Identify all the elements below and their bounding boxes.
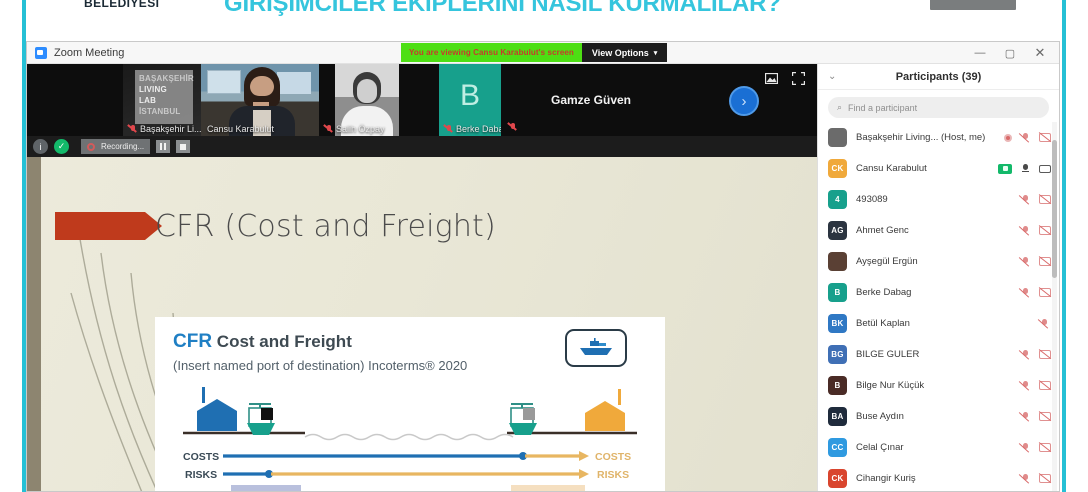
participant-row[interactable]: 4 493089 [818,184,1059,215]
participant-status-icons [1019,256,1051,268]
view-options-label: View Options [592,48,649,58]
collapse-panel-icon[interactable]: ⌄ [828,71,836,82]
camera-off-icon[interactable] [1039,474,1051,483]
window-body: BAŞAKŞEHİR LIVING LAB İSTANBUL Başakşehi… [27,64,1059,492]
meeting-stage: BAŞAKŞEHİR LIVING LAB İSTANBUL Başakşehi… [27,64,817,492]
mic-off-icon[interactable] [1019,194,1032,206]
participant-row[interactable]: B Berke Dabag [818,277,1059,308]
participant-status-icons [1019,287,1051,299]
window-controls: — ▢ ✕ [965,42,1055,64]
camera-off-icon[interactable] [1039,443,1051,452]
mic-off-icon [509,123,517,132]
encryption-shield-icon[interactable]: ✓ [54,139,69,154]
mic-off-icon[interactable] [1019,442,1032,454]
video-tile[interactable]: Salih Özpay [319,64,403,136]
slide-left-band [27,157,41,492]
header-placeholder-block [930,0,1016,10]
avatar: BG [828,345,847,364]
pause-recording-button[interactable] [156,140,170,153]
participant-status-icons [1019,442,1051,454]
meeting-info-icon[interactable]: i [33,139,48,154]
logo-line-2: LIVING [139,84,189,95]
mic-off-icon[interactable] [1019,132,1032,144]
avatar [828,128,847,147]
participant-status-icons [1019,380,1051,392]
participant-name: Başakşehir Living... (Host, me) [856,132,995,143]
zoom-logo-icon [35,47,47,59]
participant-name: Buse Aydın [856,411,1010,422]
recording-label: Recording... [101,142,144,151]
camera-off-icon[interactable] [1039,257,1051,266]
camera-off-icon[interactable] [1039,350,1051,359]
video-tile-name-row: Berke Dabag [445,124,501,134]
view-options-button[interactable]: View Options ▾ [582,43,667,62]
costs-label-right: COSTS [595,451,631,463]
avatar: AG [828,221,847,240]
video-tile[interactable]: BAŞAKŞEHİR LIVING LAB İSTANBUL Başakşehi… [123,64,201,136]
participant-row[interactable]: BG BILGE GULER [818,339,1059,370]
mic-off-icon[interactable] [1019,473,1032,485]
recording-toolbar: i ✓ Recording... [27,136,817,157]
participant-name: BILGE GULER [856,349,1010,360]
fullscreen-icon[interactable] [792,72,805,85]
video-tile-label: Gamze Güven [501,64,681,136]
participant-name: Ayşegül Ergün [856,256,1010,267]
stop-recording-button[interactable] [176,140,190,153]
municipality-label: BELEDİYESİ [84,0,159,10]
participant-row[interactable]: CK Cansu Karabulut [818,153,1059,184]
slide-bullet-arrow [55,212,145,240]
mic-off-icon [129,125,137,134]
participant-status-icons [1004,132,1051,144]
camera-off-icon[interactable] [1039,381,1051,390]
participant-name: Bilge Nur Küçük [856,380,1010,391]
video-tile-name-row: Salih Özpay [325,124,385,134]
participant-name: Celal Çınar [856,442,1010,453]
share-notice-label: You are viewing Cansu Karabulut's screen [401,43,582,62]
participant-row[interactable]: CK Cihangir Kuriş [818,463,1059,492]
participant-status-icons [1019,194,1051,206]
video-tile-name-row: Cansu Karabulut [207,124,274,134]
page-rail-right [1062,0,1066,492]
avatar: CK [828,469,847,488]
avatar: BA [828,407,847,426]
window-titlebar: Zoom Meeting You are viewing Cansu Karab… [27,42,1059,64]
participant-name: 493089 [856,194,1010,205]
camera-on-icon[interactable] [1039,165,1051,173]
zoom-meeting-window: Zoom Meeting You are viewing Cansu Karab… [26,41,1060,492]
mic-off-icon [445,125,453,134]
camera-off-icon[interactable] [1039,133,1051,142]
avatar [828,252,847,271]
participants-panel: ⌄ Participants (39) ⌕ Find a participant… [817,64,1059,492]
close-button[interactable]: ✕ [1025,42,1055,64]
minimize-button[interactable]: — [965,42,995,64]
incoterm-name: Cost and Freight [217,332,352,351]
risks-label-left: RISKS [185,469,217,481]
participant-row[interactable]: Ayşegül Ergün [818,246,1059,277]
incoterm-diagram: COSTS COSTS RISKS RISK [155,381,665,492]
page-header: BELEDİYESİ GİRİŞİMCİLER EKİPLERİNİ NASIL… [0,0,1088,42]
video-tile[interactable]: Cansu Karabulut [201,64,319,136]
participant-row[interactable]: BA Buse Aydın [818,401,1059,432]
video-filmstrip: BAŞAKŞEHİR LIVING LAB İSTANBUL Başakşehi… [27,64,817,136]
participant-row[interactable]: Başakşehir Living... (Host, me) [818,122,1059,153]
recording-status: Recording... [81,139,150,154]
logo-line-1: BAŞAKŞEHİR [139,73,189,84]
participant-status-icons [1019,411,1051,423]
mic-off-icon[interactable] [1019,380,1032,392]
mic-off-icon[interactable] [1019,287,1032,299]
participant-name: Ahmet Genc [856,225,1010,236]
logo-line-4: İSTANBUL [139,106,189,117]
mic-off-icon[interactable] [1038,318,1051,330]
participant-status-icons [1019,225,1051,237]
mic-off-icon[interactable] [1019,256,1032,268]
video-tile[interactable]: B Berke Dabag [439,64,501,136]
avatar: B [828,376,847,395]
costs-label-left: COSTS [183,451,219,463]
mic-off-icon[interactable] [1019,411,1032,423]
screen-share-banner: You are viewing Cansu Karabulut's screen… [401,43,667,62]
logo-line-3: LAB [139,95,189,106]
ship-at-import-port [509,403,537,435]
next-page-button[interactable]: › [729,86,759,116]
incoterm-card: CFR Cost and Freight (Insert named port … [155,317,665,492]
camera-off-icon[interactable] [1039,288,1051,297]
screen-share-icon [998,164,1012,174]
participant-row[interactable]: AG Ahmet Genc [818,215,1059,246]
gallery-view-icon[interactable] [765,73,778,84]
avatar: 4 [828,190,847,209]
participant-name: Berke Dabag [856,287,1010,298]
shared-slide: CFR (Cost and Freight) CFR Cost and Frei… [27,157,817,492]
record-dot-icon [87,143,95,151]
video-tile-label: Salih Özpay [336,124,385,134]
maximize-button[interactable]: ▢ [995,42,1025,64]
avatar: B [828,283,847,302]
camera-off-icon[interactable] [1039,412,1051,421]
participant-row[interactable]: B Bilge Nur Küçük [818,370,1059,401]
search-input[interactable]: Find a participant [848,103,917,113]
participant-status-icons [1019,473,1051,485]
participant-name: Cihangir Kuriş [856,473,1010,484]
participants-list[interactable]: Başakşehir Living... (Host, me) CK Cansu… [818,122,1059,492]
participants-title: Participants (39) [818,71,1059,83]
living-lab-logo: BAŞAKŞEHİR LIVING LAB İSTANBUL [135,70,193,124]
mic-off-icon[interactable] [1019,349,1032,361]
camera-off-icon[interactable] [1039,195,1051,204]
host-indicator-icon [1004,134,1012,142]
participant-status-icons [1038,318,1051,330]
video-tile-label: Berke Dabag [456,124,501,134]
participant-status-icons [1019,349,1051,361]
video-tile-name-row: Başakşehir Li... [129,124,201,134]
search-icon: ⌕ [837,102,842,113]
mic-off-icon [325,125,333,134]
video-tile[interactable]: Gamze Güven [501,64,681,136]
webinar-title: GİRİŞİMCİLER EKİPLERİNİ NASIL KURMALILAR… [224,0,781,18]
mic-off-icon[interactable] [1019,225,1032,237]
window-title: Zoom Meeting [54,47,124,59]
ship-at-export-port [247,403,275,435]
ship-icon [565,329,627,367]
chevron-down-icon: ▾ [654,49,658,57]
participant-search-box[interactable]: ⌕ Find a participant [828,97,1049,118]
camera-off-icon[interactable] [1039,226,1051,235]
participant-name: Betül Kaplan [856,318,1029,329]
avatar: BK [828,314,847,333]
participant-row[interactable]: CC Celal Çınar [818,432,1059,463]
participant-status-icons [998,163,1051,175]
video-tile-label: Cansu Karabulut [207,124,274,134]
avatar: CK [828,159,847,178]
participants-scrollbar[interactable] [1052,140,1057,278]
slide-heading: CFR (Cost and Freight) [155,209,496,244]
avatar: CC [828,438,847,457]
participants-header: ⌄ Participants (39) [818,64,1059,90]
participant-row[interactable]: BK Betül Kaplan [818,308,1059,339]
mic-on-icon[interactable] [1019,163,1032,175]
risks-label-right: RISKS [597,469,629,481]
stage-icons [765,72,805,85]
webinar-page: BELEDİYESİ GİRİŞİMCİLER EKİPLERİNİ NASIL… [0,0,1088,492]
video-tile-label: Başakşehir Li... [140,124,201,134]
participant-name: Cansu Karabulut [856,163,989,174]
incoterm-code: CFR [173,331,212,352]
